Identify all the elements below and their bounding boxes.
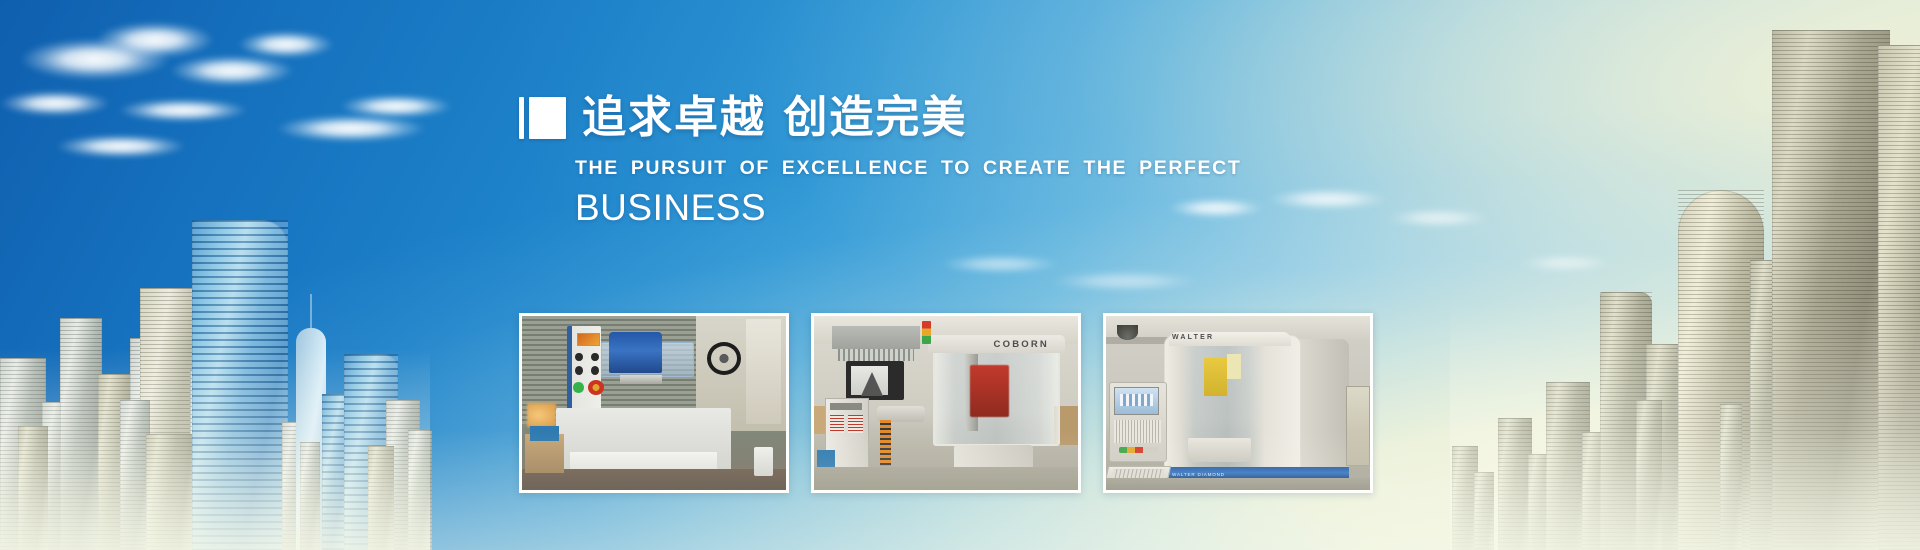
vertical-bar-icon bbox=[519, 97, 524, 139]
cable-chain bbox=[880, 420, 891, 465]
logo-mark bbox=[519, 97, 566, 139]
subtitle-english: THE PURSUIT OF EXCELLENCE TO CREATE THE … bbox=[575, 157, 1279, 180]
photo-image: WALTER DIAMOND WALTER bbox=[1106, 316, 1370, 490]
handwheel bbox=[707, 342, 741, 375]
cabinet-label bbox=[830, 403, 862, 410]
hero-banner: 追求卓越 创造完美 THE PURSUIT OF EXCELLENCE TO C… bbox=[0, 0, 1920, 550]
console-keypad bbox=[1114, 420, 1162, 443]
photo-surface-grinding-machine[interactable] bbox=[519, 313, 789, 493]
filled-square-icon bbox=[529, 97, 566, 139]
duct bbox=[832, 326, 919, 349]
drape bbox=[746, 319, 780, 423]
subtitle-business: BUSINESS bbox=[575, 189, 1279, 226]
cabinet-readout bbox=[830, 415, 845, 432]
yellow-panel bbox=[1227, 354, 1240, 378]
photo-image bbox=[522, 316, 786, 490]
vent-grille bbox=[838, 349, 915, 361]
headline-row: 追求卓越 创造完美 bbox=[519, 96, 1279, 140]
floor bbox=[1106, 478, 1370, 490]
photo-strip: COBORN WALTER DIAMOND bbox=[519, 313, 1373, 493]
photo-image: COBORN bbox=[814, 316, 1078, 490]
emergency-stop-button bbox=[588, 380, 604, 395]
blue-bin bbox=[817, 450, 835, 469]
floor bbox=[814, 467, 1078, 490]
cabinet-readout bbox=[848, 415, 863, 432]
grinding-head bbox=[609, 332, 662, 374]
stack-light-icon bbox=[922, 321, 931, 344]
machine-brand-label: WALTER bbox=[1172, 334, 1214, 341]
button-black bbox=[575, 366, 583, 375]
plastic-jug bbox=[754, 447, 772, 477]
photo-walter-cnc-machine[interactable]: WALTER DIAMOND WALTER bbox=[1103, 313, 1373, 493]
electrical-cabinet bbox=[1346, 386, 1370, 466]
pendant-lamp-icon bbox=[1117, 325, 1138, 341]
blue-bin bbox=[530, 426, 559, 442]
machine-brand-label: COBORN bbox=[994, 339, 1049, 350]
magnetic-chuck bbox=[620, 375, 662, 384]
photo-coborn-grinding-machine[interactable]: COBORN bbox=[811, 313, 1081, 493]
lamp-glow bbox=[527, 403, 556, 427]
stripe-text: WALTER DIAMOND bbox=[1172, 472, 1225, 477]
button-black bbox=[591, 353, 599, 362]
monitor-screen bbox=[851, 366, 888, 396]
panel-display bbox=[577, 333, 599, 346]
button-green bbox=[573, 382, 584, 392]
workpiece bbox=[1188, 438, 1251, 462]
red-machine-part bbox=[970, 365, 1010, 417]
button-black bbox=[575, 353, 583, 362]
button-black bbox=[591, 366, 599, 375]
console-screen bbox=[1114, 387, 1159, 415]
yellow-panel bbox=[1204, 358, 1228, 396]
status-leds bbox=[1119, 447, 1159, 454]
headline-block: 追求卓越 创造完美 THE PURSUIT OF EXCELLENCE TO C… bbox=[519, 96, 1279, 226]
page-title: 追求卓越 创造完美 bbox=[582, 96, 967, 140]
